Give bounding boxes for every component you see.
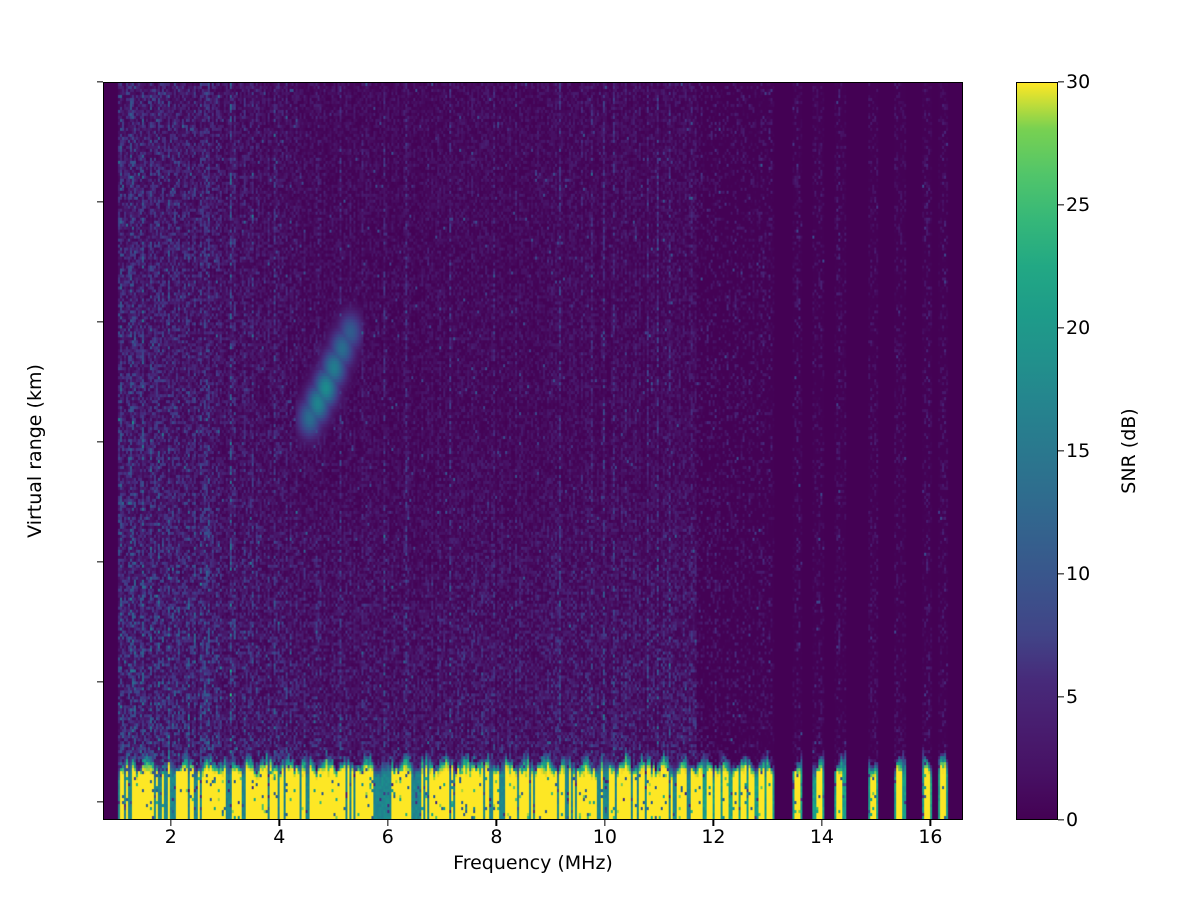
colorbar-tick-mark (1058, 573, 1064, 574)
x-tick-label: 2 (165, 826, 177, 848)
x-tick-mark (496, 820, 497, 826)
x-tick-mark (930, 820, 931, 826)
plot-axes[interactable] (103, 82, 963, 820)
colorbar-tick-label: 20 (1066, 317, 1090, 339)
colorbar-label: SNR (dB) (1118, 408, 1140, 493)
x-tick-mark (170, 820, 171, 826)
colorbar-tick-label: 15 (1066, 440, 1090, 462)
colorbar-tick-label: 0 (1066, 809, 1078, 831)
colorbar-tick-mark (1058, 327, 1064, 328)
x-tick-label: 8 (490, 826, 502, 848)
x-tick-label: 4 (273, 826, 285, 848)
x-tick-label: 6 (382, 826, 394, 848)
x-tick-mark (821, 820, 822, 826)
colorbar-tick-label: 30 (1066, 71, 1090, 93)
colorbar-tick-mark (1058, 819, 1064, 820)
y-axis-label: Virtual range (km) (24, 364, 46, 538)
colorbar-tick-mark (1058, 81, 1064, 82)
colorbar-tick-label: 25 (1066, 194, 1090, 216)
colorbar-tick-label: 10 (1066, 563, 1090, 585)
x-axis-label: Frequency (MHz) (103, 852, 963, 874)
x-tick-label: 14 (810, 826, 834, 848)
y-tick-mark (97, 801, 103, 802)
colorbar-tick-mark (1058, 204, 1064, 205)
y-tick-mark (97, 321, 103, 322)
ionogram-figure: IRF Kiruna Ionosonde KI167 2025-10-19 11… (0, 0, 1200, 900)
colorbar-tick-mark (1058, 696, 1064, 697)
x-tick-mark (604, 820, 605, 826)
x-tick-label: 10 (593, 826, 617, 848)
x-tick-mark (387, 820, 388, 826)
y-tick-mark (97, 201, 103, 202)
x-tick-mark (713, 820, 714, 826)
y-tick-mark (97, 681, 103, 682)
x-tick-label: 16 (918, 826, 942, 848)
y-tick-mark (97, 561, 103, 562)
ionogram-heatmap[interactable] (104, 83, 962, 819)
y-tick-mark (97, 441, 103, 442)
y-tick-mark (97, 81, 103, 82)
x-tick-label: 12 (701, 826, 725, 848)
x-tick-mark (279, 820, 280, 826)
colorbar-gradient[interactable] (1016, 82, 1058, 820)
colorbar-tick-mark (1058, 450, 1064, 451)
colorbar-tick-label: 5 (1066, 686, 1078, 708)
